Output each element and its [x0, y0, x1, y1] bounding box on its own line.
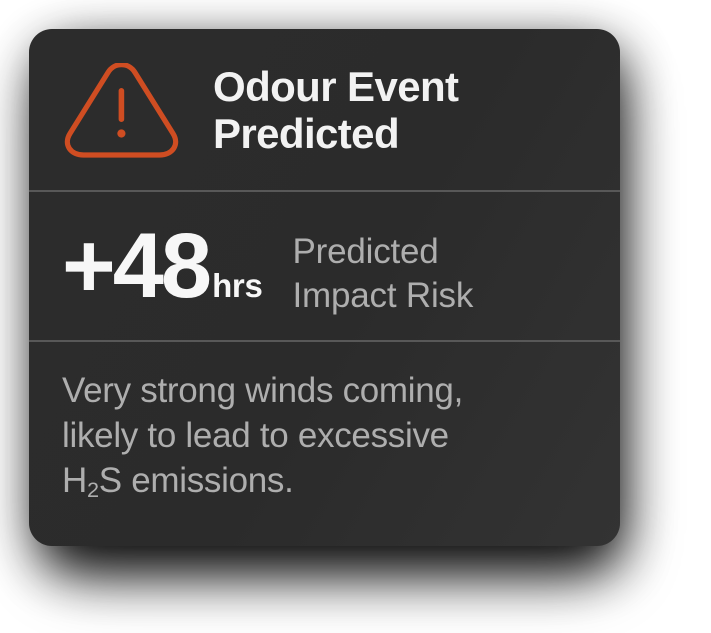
odour-event-alert-card[interactable]: Odour Event Predicted +48 hrs Predicted …	[29, 29, 620, 546]
alert-description: Very strong winds coming, likely to lead…	[29, 342, 620, 507]
alert-header: Odour Event Predicted	[29, 29, 620, 190]
metric-value-group: +48 hrs	[62, 228, 263, 304]
description-chemical-suffix: S emissions.	[99, 461, 294, 500]
metric-unit: hrs	[212, 269, 262, 302]
description-line-3: H2S emissions.	[62, 458, 590, 507]
metric-row: +48 hrs Predicted Impact Risk	[29, 192, 620, 340]
screen-background: Odour Event Predicted +48 hrs Predicted …	[0, 0, 711, 633]
description-chemical-prefix: H	[62, 461, 87, 500]
warning-triangle-icon	[62, 63, 181, 158]
description-chemical-subscript: 2	[87, 477, 99, 502]
alert-title: Odour Event Predicted	[213, 59, 458, 157]
metric-label: Predicted Impact Risk	[293, 230, 474, 318]
description-line-1: Very strong winds coming,	[62, 368, 590, 413]
metric-value: +48	[62, 228, 209, 304]
description-line-2: likely to lead to excessive	[62, 413, 590, 458]
